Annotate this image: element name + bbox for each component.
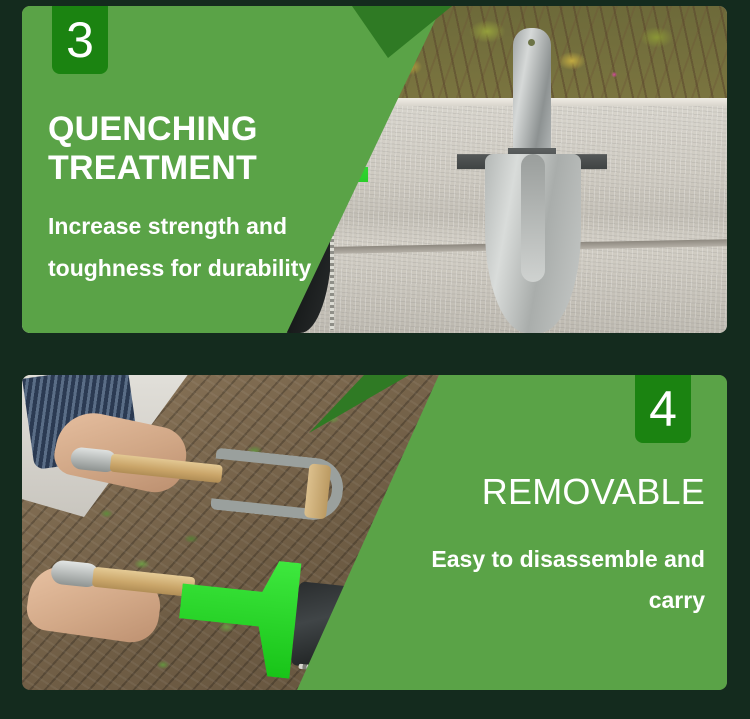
feature-4-text: REMOVABLE Easy to disassemble and carry	[385, 471, 705, 622]
feature-4-description: Easy to disassemble and carry	[385, 539, 705, 622]
feature-card-3: 3 QUENCHING TREATMENT Increase strength …	[22, 6, 727, 333]
feature-3-description: Increase strength and toughness for dura…	[48, 205, 378, 290]
step-number-badge-3: 3	[52, 6, 108, 74]
feature-card-4: 4 REMOVABLE Easy to disassemble and carr…	[22, 375, 727, 690]
feature-4-title: REMOVABLE	[385, 471, 705, 513]
d-trowel-wooden-shaft	[110, 454, 223, 484]
feature-panels-page: 3 QUENCHING TREATMENT Increase strength …	[0, 0, 750, 719]
green-trowel-wooden-shaft	[92, 567, 196, 598]
feature-3-text: QUENCHING TREATMENT Increase strength an…	[48, 110, 378, 290]
steel-trowel	[457, 28, 607, 333]
steel-trowel-blade	[485, 154, 581, 333]
step-number-badge-4: 4	[635, 375, 691, 443]
feature-3-title: QUENCHING TREATMENT	[48, 110, 378, 189]
steel-trowel-handle	[513, 28, 551, 168]
